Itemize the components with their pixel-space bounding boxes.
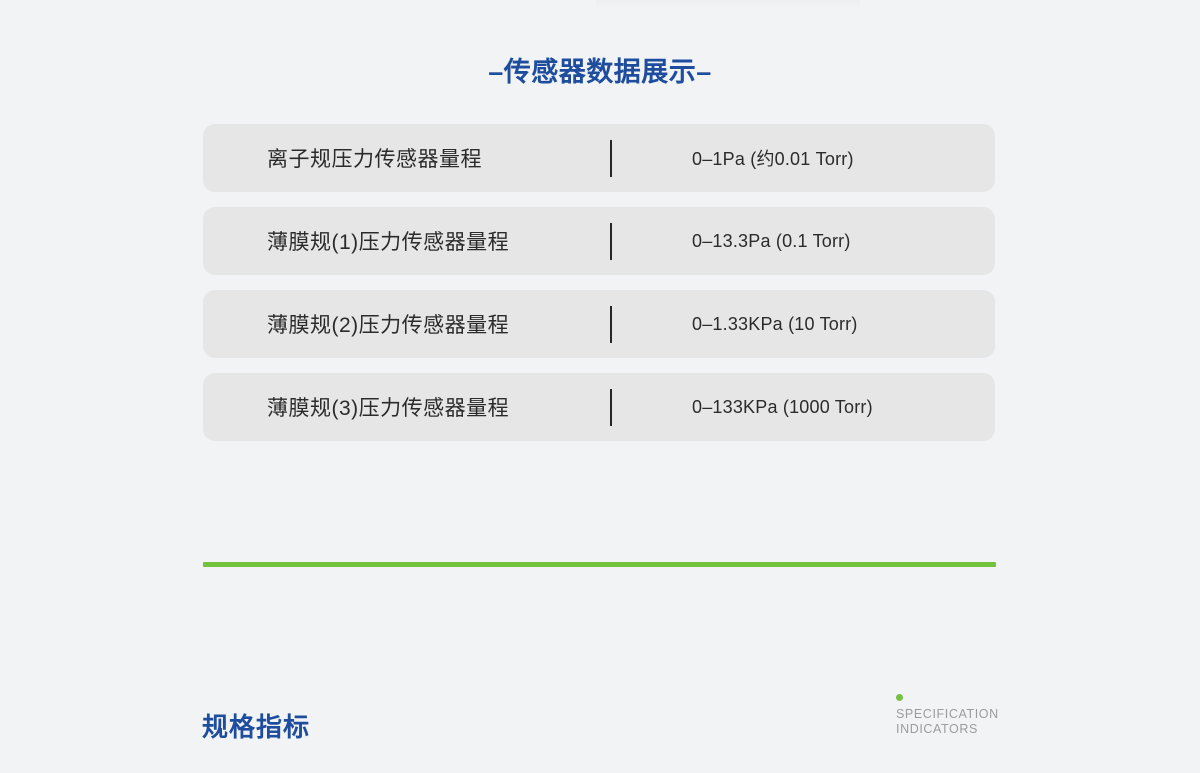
table-row: 薄膜规(3)压力传感器量程 0–133KPa (1000 Torr) [203, 373, 995, 441]
specification-table: 离子规压力传感器量程 0–1Pa (约0.01 Torr) 薄膜规(1)压力传感… [203, 124, 995, 456]
top-cutoff-strip [596, 0, 860, 9]
page-title: –传感器数据展示– [0, 50, 1200, 89]
section-divider [203, 562, 996, 567]
footer-mark: SPECIFICATION INDICATORS [896, 694, 1026, 737]
spec-label: 薄膜规(1)压力传感器量程 [267, 226, 509, 256]
row-divider-icon [610, 306, 612, 343]
footer-section-heading: 规格指标 [202, 707, 310, 744]
row-divider-icon [610, 140, 612, 177]
spec-label: 薄膜规(2)压力传感器量程 [267, 309, 509, 339]
footer-mark-line-1: SPECIFICATION [896, 707, 1026, 722]
table-row: 离子规压力传感器量程 0–1Pa (约0.01 Torr) [203, 124, 995, 192]
footer-mark-line-2: INDICATORS [896, 722, 1026, 737]
green-dot-icon [896, 694, 903, 701]
spec-value: 0–1.33KPa (10 Torr) [692, 314, 858, 335]
spec-label: 离子规压力传感器量程 [267, 143, 482, 173]
table-row: 薄膜规(1)压力传感器量程 0–13.3Pa (0.1 Torr) [203, 207, 995, 275]
row-divider-icon [610, 389, 612, 426]
spec-label: 薄膜规(3)压力传感器量程 [267, 392, 509, 422]
table-row: 薄膜规(2)压力传感器量程 0–1.33KPa (10 Torr) [203, 290, 995, 358]
spec-value: 0–13.3Pa (0.1 Torr) [692, 231, 851, 252]
spec-value: 0–1Pa (约0.01 Torr) [692, 145, 854, 171]
spec-value: 0–133KPa (1000 Torr) [692, 397, 873, 418]
row-divider-icon [610, 223, 612, 260]
